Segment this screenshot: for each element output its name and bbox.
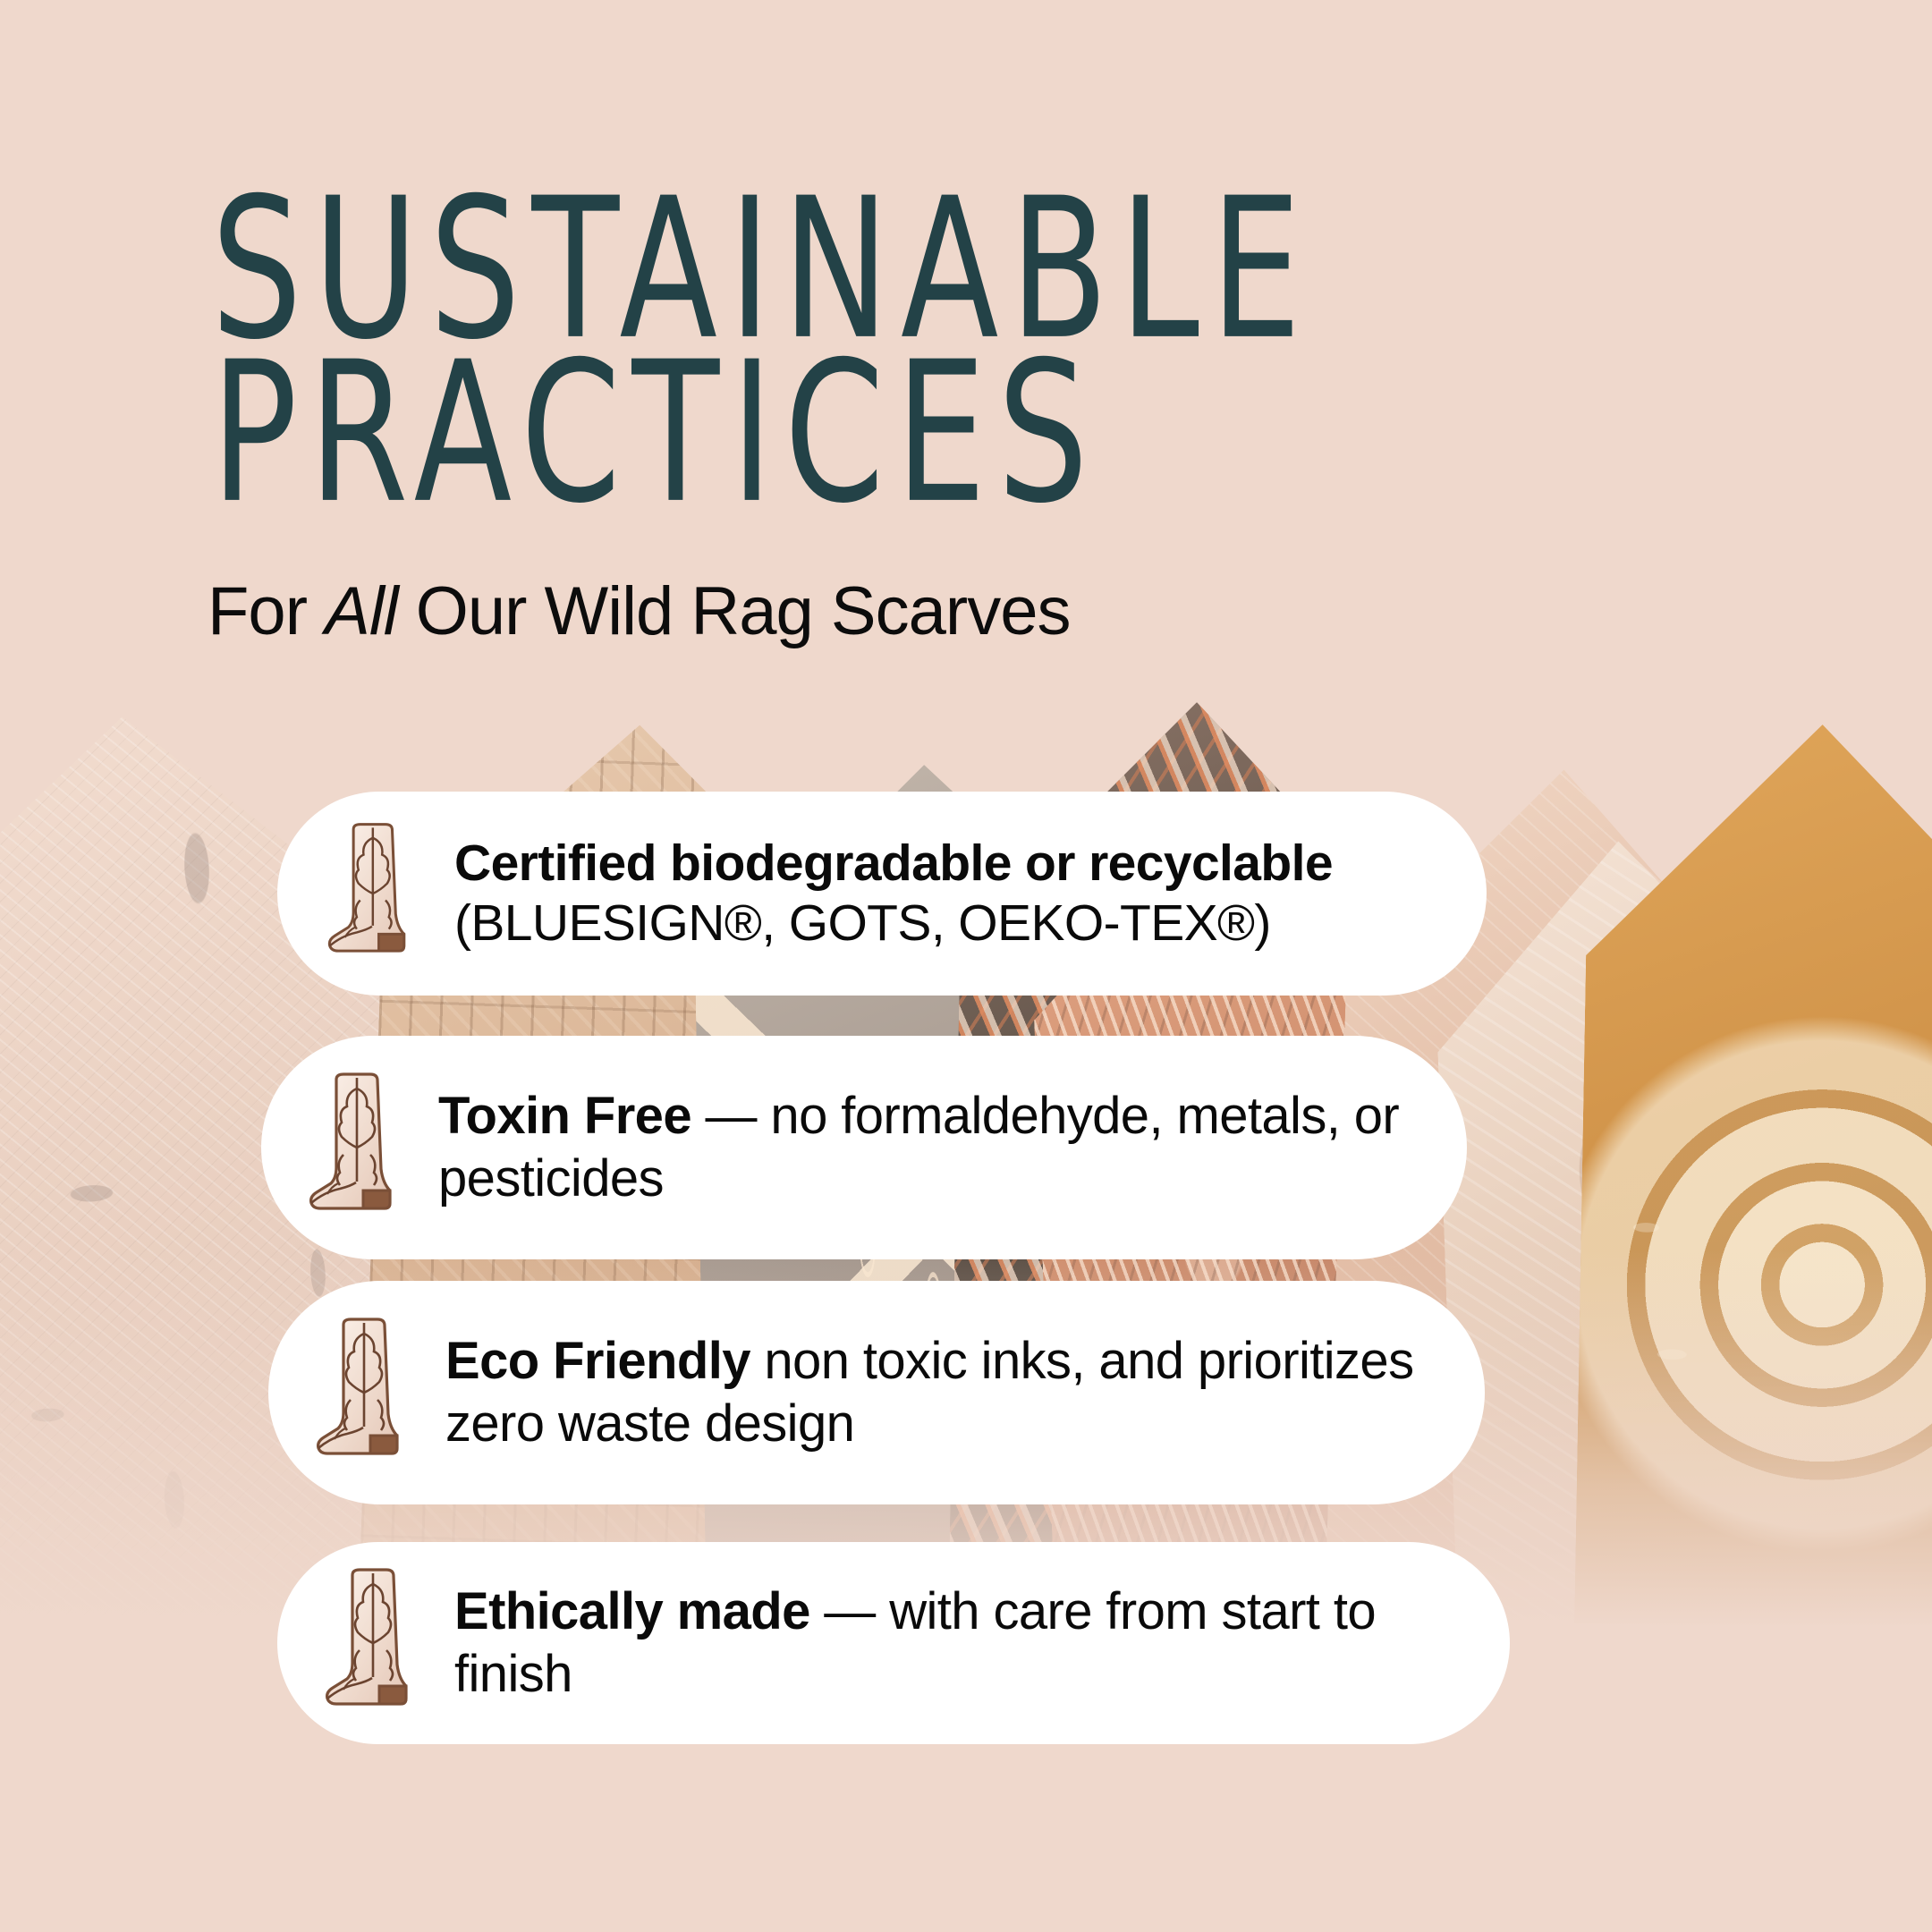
feature-card-bold: Eco Friendly [445,1332,750,1390]
feature-card-list: Certified biodegradable or recyclable (B… [0,0,1932,1932]
feature-card-ethically-made[interactable]: Ethically made — with care from start to… [277,1542,1510,1744]
feature-card-text: Toxin Free — no formaldehyde, metals, or… [438,1085,1417,1209]
feature-card-bold: Ethically made [454,1582,810,1640]
feature-card-text: Certified biodegradable or recyclable (B… [454,834,1333,953]
feature-card-eco-friendly[interactable]: Eco Friendly non toxic inks, and priorit… [268,1281,1485,1504]
feature-card-sub: (BLUESIGN®, GOTS, OEKO-TEX®) [454,894,1271,952]
cowboy-boot-icon [308,1314,415,1471]
feature-card-bold: Toxin Free [438,1087,691,1145]
cowboy-boot-icon [301,1069,408,1226]
feature-card-text: Ethically made — with care from start to… [454,1580,1460,1705]
cowboy-boot-icon [317,819,424,968]
feature-card-bold: Certified biodegradable or recyclable [454,835,1333,892]
feature-card-toxin-free[interactable]: Toxin Free — no formaldehyde, metals, or… [261,1036,1467,1259]
cowboy-boot-icon [317,1564,424,1722]
poster-canvas: SUSTAINABLE PRACTICES For All Our Wild R… [0,0,1932,1932]
feature-card-certified[interactable]: Certified biodegradable or recyclable (B… [277,792,1487,996]
feature-card-text: Eco Friendly non toxic inks, and priorit… [445,1330,1435,1454]
